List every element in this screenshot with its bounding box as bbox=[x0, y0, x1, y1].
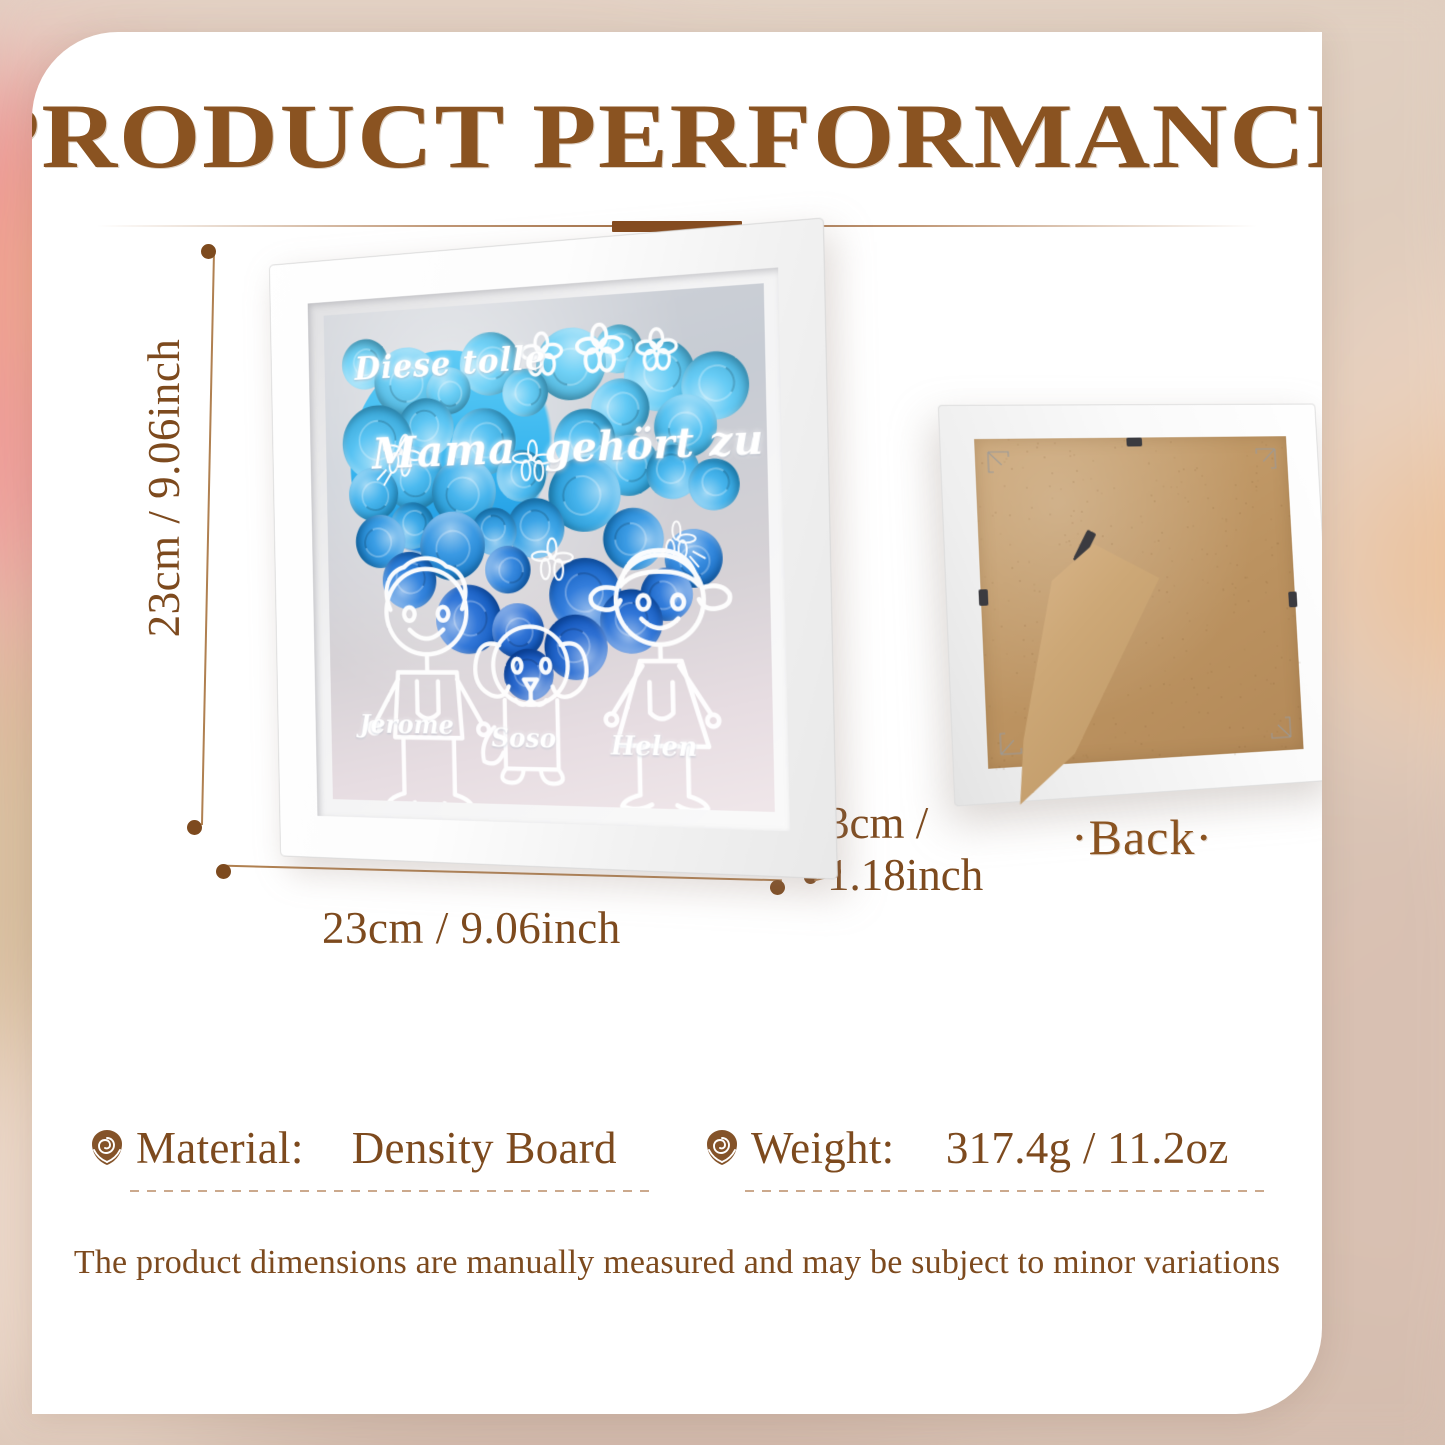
rose-icon bbox=[84, 1125, 130, 1171]
width-dimension-label: 23cm / 9.06inch bbox=[322, 902, 621, 954]
spec-material: Material: Density Board bbox=[84, 1122, 655, 1192]
product-front-view: Diese tolle Mama gehört zu Jerome Soso H… bbox=[269, 217, 838, 879]
product-back-view bbox=[938, 404, 1322, 807]
spec-material-rule bbox=[130, 1190, 655, 1192]
retaining-clip-left bbox=[978, 589, 988, 606]
width-guide-dot-left bbox=[216, 864, 231, 879]
corner-bracket-top-right bbox=[1255, 448, 1277, 469]
infographic-page: PRODUCT PERFORMANCE 23cm / 9.06inch 23cm… bbox=[0, 0, 1445, 1445]
height-guide-line bbox=[201, 250, 215, 825]
retaining-clip-top bbox=[1126, 438, 1142, 447]
product-stage: 23cm / 9.06inch 23cm / 9.06inch 3cm / 1.… bbox=[32, 232, 1322, 1112]
corner-bracket-top-left bbox=[987, 451, 1010, 473]
shadow-box-interior: Diese tolle Mama gehört zu Jerome Soso H… bbox=[324, 283, 775, 812]
height-dimension-label: 23cm / 9.06inch bbox=[138, 323, 190, 653]
spec-weight-label: Weight: bbox=[751, 1122, 894, 1174]
width-guide-dot-right bbox=[770, 880, 785, 895]
page-title: PRODUCT PERFORMANCE bbox=[32, 90, 1322, 182]
spec-bar: Material: Density Board bbox=[32, 1122, 1322, 1192]
height-guide-dot-top bbox=[201, 244, 216, 259]
rose-petals bbox=[337, 318, 748, 346]
corner-bracket-bottom-right bbox=[1270, 716, 1292, 739]
mdf-backing-board bbox=[974, 436, 1304, 769]
back-view-label: ·Back· bbox=[947, 808, 1322, 866]
measurement-disclaimer: The product dimensions are manually meas… bbox=[32, 1244, 1322, 1282]
content-card: PRODUCT PERFORMANCE 23cm / 9.06inch 23cm… bbox=[32, 32, 1322, 1414]
rose-heart bbox=[337, 318, 757, 735]
height-guide-dot-bottom bbox=[187, 820, 202, 835]
name-label-3: Helen bbox=[610, 731, 697, 763]
spec-weight-rule bbox=[745, 1190, 1270, 1192]
spec-material-label: Material: bbox=[136, 1122, 304, 1174]
retaining-clip-right bbox=[1288, 591, 1297, 607]
corner-bracket-bottom-left bbox=[999, 732, 1023, 756]
spec-weight: Weight: 317.4g / 11.2oz bbox=[699, 1122, 1270, 1192]
spec-weight-value: 317.4g / 11.2oz bbox=[894, 1122, 1270, 1174]
spec-material-value: Density Board bbox=[304, 1122, 655, 1174]
rose-icon bbox=[699, 1125, 745, 1171]
